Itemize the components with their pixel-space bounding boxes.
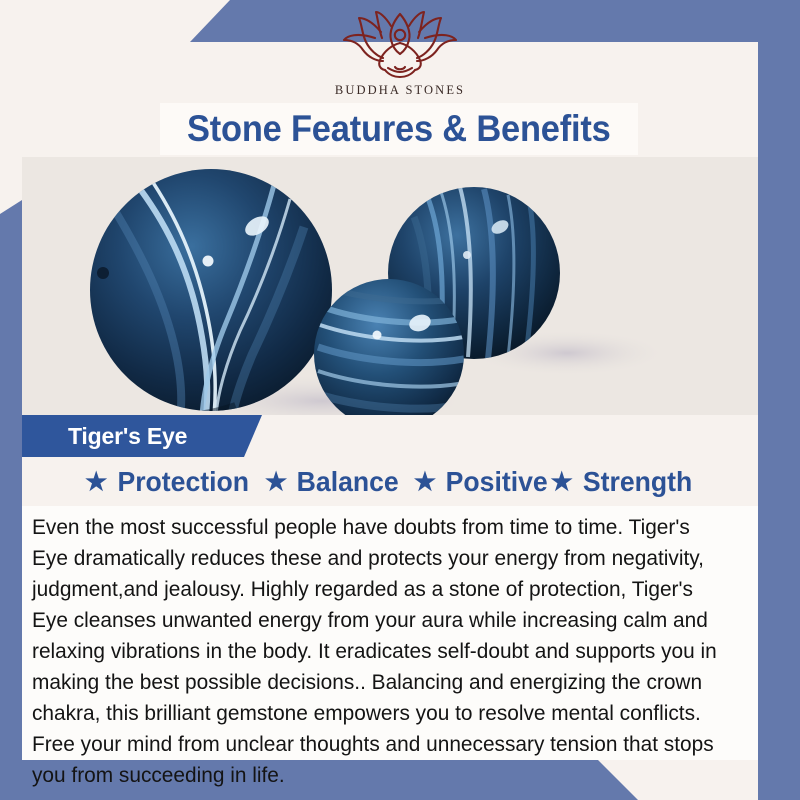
page-title: Stone Features & Benefits — [187, 108, 611, 150]
brand-logo: BUDDHA STONES — [0, 10, 800, 98]
description-card: Even the most successful people have dou… — [22, 506, 758, 760]
benefits-row: ★ Protection ★ Balance ★ Positive ★ Stre… — [22, 460, 758, 504]
benefit-label: Positive — [446, 466, 548, 498]
benefit-label: Strength — [583, 466, 692, 498]
star-icon: ★ — [414, 470, 436, 495]
left-accent-band — [0, 200, 22, 800]
benefit-label: Balance — [297, 466, 399, 498]
stone-name-label: Tiger's Eye — [22, 423, 187, 450]
lotus-meditation-figure-icon — [335, 10, 465, 82]
stone-name-ribbon: Tiger's Eye — [22, 415, 262, 457]
poster-canvas: BUDDHA STONES Stone Features & Benefits — [0, 0, 800, 800]
brand-name: BUDDHA STONES — [335, 83, 465, 98]
description-paragraph: Even the most successful people have dou… — [32, 512, 723, 791]
benefit-item-protection: ★ Protection — [85, 466, 253, 498]
right-accent-band — [758, 0, 800, 800]
stone-photo — [22, 157, 758, 415]
benefit-label: Protection — [118, 466, 250, 498]
star-icon: ★ — [265, 470, 287, 495]
benefit-item-strength: ★ Strength — [551, 466, 696, 498]
star-icon: ★ — [551, 470, 573, 495]
blue-tigers-eye-spheres-illustration — [22, 157, 758, 415]
star-icon: ★ — [85, 470, 107, 495]
benefit-item-balance: ★ Balance — [265, 466, 402, 498]
benefit-item-positive: ★ Positive — [414, 466, 551, 498]
title-band: Stone Features & Benefits — [160, 103, 638, 155]
